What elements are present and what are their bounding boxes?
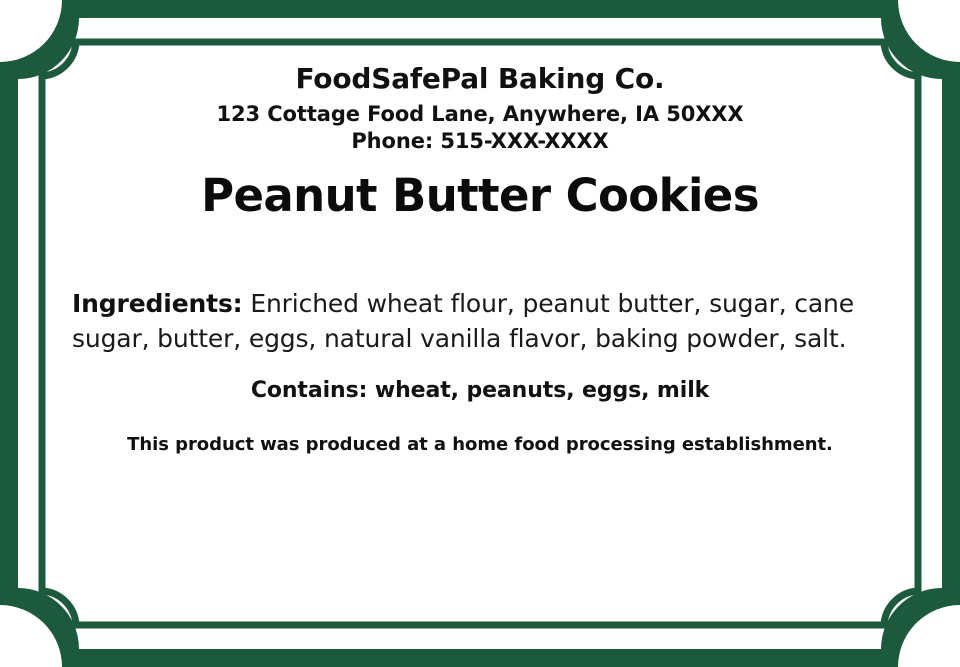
home-food-disclaimer: This product was produced at a home food…	[72, 434, 888, 455]
ingredients-statement: Ingredients: Enriched wheat flour, peanu…	[72, 286, 888, 356]
ingredients-label: Ingredients:	[72, 289, 243, 318]
food-label-card: FoodSafePal Baking Co. 123 Cottage Food …	[0, 0, 960, 667]
product-name: Peanut Butter Cookies	[72, 170, 888, 222]
label-content: FoodSafePal Baking Co. 123 Cottage Food …	[0, 0, 960, 667]
business-address: 123 Cottage Food Lane, Anywhere, IA 50XX…	[72, 101, 888, 128]
allergen-statement: Contains: wheat, peanuts, eggs, milk	[72, 378, 888, 403]
business-phone: Phone: 515-XXX-XXXX	[72, 128, 888, 155]
business-info-block: FoodSafePal Baking Co. 123 Cottage Food …	[72, 62, 888, 156]
business-name: FoodSafePal Baking Co.	[72, 62, 888, 96]
